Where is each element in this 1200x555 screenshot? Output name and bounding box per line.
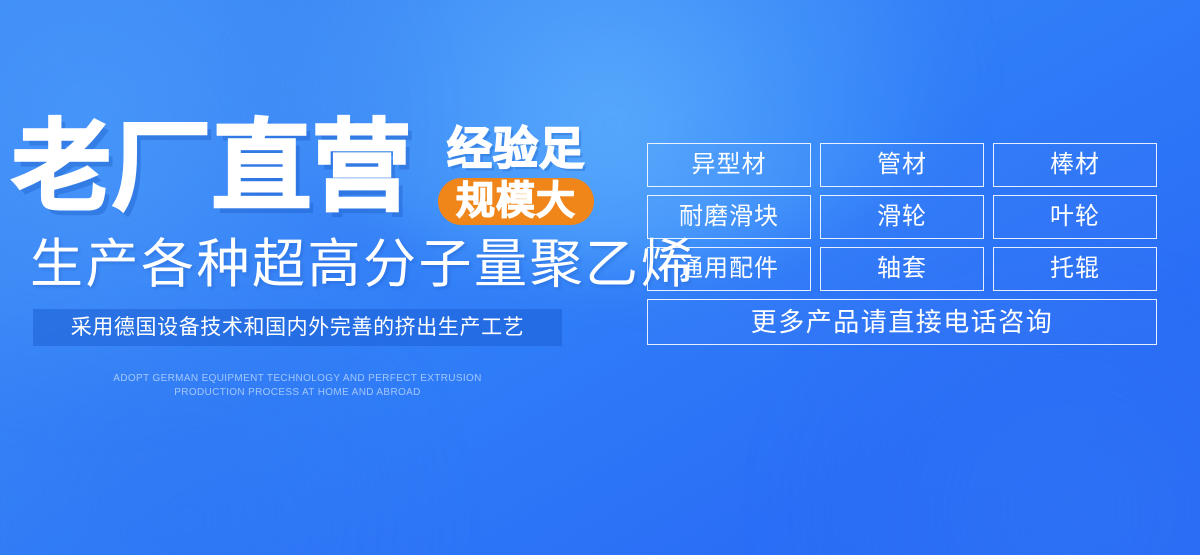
headline-row: 老厂直营 经验足 规模大 [10,112,610,230]
product-row-2: 耐磨滑块 滑轮 叶轮 [647,195,1157,239]
product-cell-pipes[interactable]: 管材 [820,143,984,187]
english-subtitle-line-2: PRODUCTION PROCESS AT HOME AND ABROAD [33,386,562,400]
headline-secondary: 生产各种超高分子量聚乙烯 [30,234,696,296]
product-label: 异型材 [692,151,767,179]
product-label: 棒材 [1050,151,1100,179]
product-label: 滑轮 [877,203,927,231]
promo-banner: 老厂直营 经验足 规模大 生产各种超高分子量聚乙烯 采用德国设备技术和国内外完善… [0,0,1200,555]
product-label: 管材 [877,151,927,179]
product-label: 托辊 [1050,255,1100,283]
product-cell-idler-roller[interactable]: 托辊 [993,247,1157,291]
headline-block: 老厂直营 经验足 规模大 生产各种超高分子量聚乙烯 采用德国设备技术和国内外完善… [0,0,620,555]
english-subtitle: ADOPT GERMAN EQUIPMENT TECHNOLOGY AND PE… [33,372,562,400]
tagline-text: 采用德国设备技术和国内外完善的挤出生产工艺 [71,315,525,341]
tagline-band: 采用德国设备技术和国内外完善的挤出生产工艺 [33,309,562,346]
product-cell-general-parts[interactable]: 通用配件 [647,247,811,291]
product-row-1: 异型材 管材 棒材 [647,143,1157,187]
badge-scale-pill: 规模大 [438,178,594,225]
badge-scale-label: 规模大 [456,181,576,223]
product-cell-profiles[interactable]: 异型材 [647,143,811,187]
product-category-grid: 异型材 管材 棒材 耐磨滑块 滑轮 叶轮 通用配件 [647,143,1157,343]
product-cell-impeller[interactable]: 叶轮 [993,195,1157,239]
more-products-cta-button[interactable]: 更多产品请直接电话咨询 [647,299,1157,345]
product-cell-rods[interactable]: 棒材 [993,143,1157,187]
product-cell-pulley[interactable]: 滑轮 [820,195,984,239]
product-cell-wear-slider[interactable]: 耐磨滑块 [647,195,811,239]
product-label: 耐磨滑块 [679,203,779,231]
english-subtitle-line-1: ADOPT GERMAN EQUIPMENT TECHNOLOGY AND PE… [33,372,562,386]
product-label: 通用配件 [679,255,779,283]
more-products-cta-label: 更多产品请直接电话咨询 [751,308,1054,336]
badge-experience-label: 经验足 [438,124,594,174]
product-cell-bushing[interactable]: 轴套 [820,247,984,291]
badge-stack: 经验足 规模大 [438,124,594,225]
headline-primary: 老厂直营 [12,112,412,222]
product-label: 轴套 [877,255,927,283]
product-row-cta: 更多产品请直接电话咨询 [647,299,1157,345]
product-label: 叶轮 [1050,203,1100,231]
product-row-3: 通用配件 轴套 托辊 [647,247,1157,291]
